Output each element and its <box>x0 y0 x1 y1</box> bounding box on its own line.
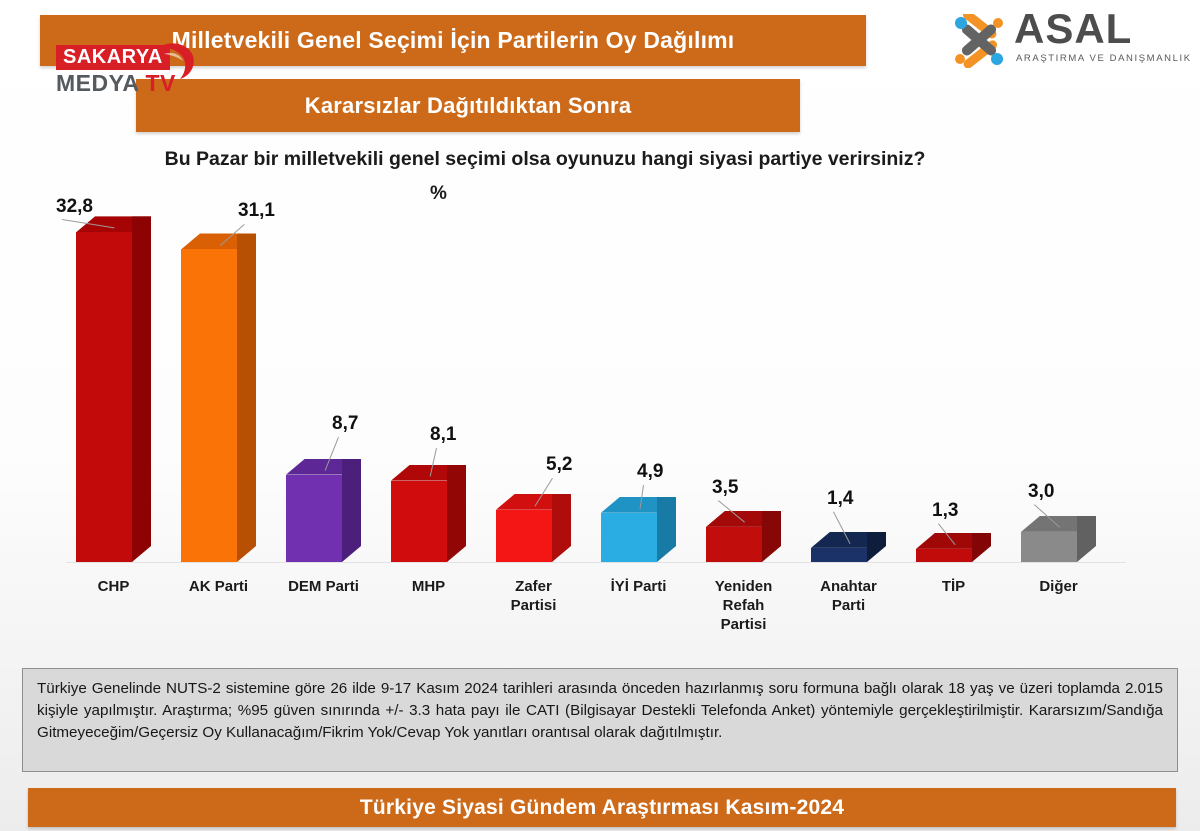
bar-value-label: 4,9 <box>637 461 663 483</box>
bar-side-face <box>552 494 571 562</box>
category-label-dem-parti: DEM Parti <box>268 578 379 597</box>
bar-front-face <box>76 232 132 562</box>
bar-side-face <box>342 459 361 562</box>
footer-title-banner: Türkiye Siyasi Gündem Araştırması Kasım-… <box>28 788 1176 827</box>
bar-value-label: 5,2 <box>546 454 572 476</box>
bar-side-face <box>762 511 781 562</box>
category-label-ti-p: TİP <box>898 578 1009 597</box>
bar-value-label: 8,1 <box>430 424 456 446</box>
bar-front-face <box>706 527 762 562</box>
bar-value-label: 1,4 <box>827 488 853 510</box>
bar-chp <box>76 216 132 562</box>
bar-front-face <box>1021 532 1077 562</box>
vote-distribution-bar-chart: 32,8CHP31,1AK Parti8,7DEM Parti8,1MHP5,2… <box>0 0 1200 660</box>
bar-dem-parti <box>286 459 342 562</box>
bar-front-face <box>811 548 867 562</box>
bar-yeniden-refah-partisi <box>706 511 762 562</box>
category-label-yeniden-refah-partisi: YenidenRefahPartisi <box>688 578 799 634</box>
category-label-line: Anahtar <box>793 578 904 597</box>
category-label-line: DEM Parti <box>268 578 379 597</box>
bar-side-face <box>132 216 151 562</box>
bar-value-label: 32,8 <box>56 196 93 218</box>
methodology-footnote: Türkiye Genelinde NUTS-2 sistemine göre … <box>22 668 1178 772</box>
bar-value-label: 3,0 <box>1028 481 1054 503</box>
category-label-line: Partisi <box>478 597 589 616</box>
category-label-chp: CHP <box>58 578 169 597</box>
category-label-line: CHP <box>58 578 169 597</box>
category-label-line: Yeniden <box>688 578 799 597</box>
footer-title-text: Türkiye Siyasi Gündem Araştırması Kasım-… <box>360 796 844 820</box>
bar-i-yi-parti <box>601 497 657 562</box>
bar-side-face <box>972 533 991 562</box>
category-label-anahtar-parti: AnahtarParti <box>793 578 904 616</box>
category-label-line: MHP <box>373 578 484 597</box>
bar-zafer-partisi <box>496 494 552 562</box>
bar-front-face <box>601 513 657 562</box>
category-label-ak-parti: AK Parti <box>163 578 274 597</box>
category-label-line: AK Parti <box>163 578 274 597</box>
bar-side-face <box>867 532 886 562</box>
bar-front-face <box>496 510 552 562</box>
bar-ti-p <box>916 533 972 562</box>
category-label-line: Parti <box>793 597 904 616</box>
bar-ak-parti <box>181 233 237 562</box>
category-label-i-yi-parti: İYİ Parti <box>583 578 694 597</box>
bar-anahtar-parti <box>811 532 867 562</box>
bar-value-label: 3,5 <box>712 477 738 499</box>
bar-value-label: 8,7 <box>332 413 358 435</box>
bar-side-face <box>237 233 256 562</box>
category-label-zafer-partisi: ZaferPartisi <box>478 578 589 616</box>
category-label-line: TİP <box>898 578 1009 597</box>
category-label-line: Partisi <box>688 616 799 635</box>
bar-front-face <box>286 475 342 562</box>
category-label-line: Zafer <box>478 578 589 597</box>
bar-value-label: 1,3 <box>932 500 958 522</box>
chart-baseline <box>66 562 1126 563</box>
category-label-line: Diğer <box>1003 578 1114 597</box>
category-label-di-er: Diğer <box>1003 578 1114 597</box>
category-label-mhp: MHP <box>373 578 484 597</box>
bar-value-label: 31,1 <box>238 200 275 222</box>
category-label-line: Refah <box>688 597 799 616</box>
bar-mhp <box>391 465 447 562</box>
bar-side-face <box>657 497 676 562</box>
bar-side-face <box>1077 516 1096 562</box>
bar-side-face <box>447 465 466 562</box>
bar-di-er <box>1021 516 1077 562</box>
bar-front-face <box>181 249 237 562</box>
bar-front-face <box>916 549 972 562</box>
bar-front-face <box>391 481 447 562</box>
category-label-line: İYİ Parti <box>583 578 694 597</box>
